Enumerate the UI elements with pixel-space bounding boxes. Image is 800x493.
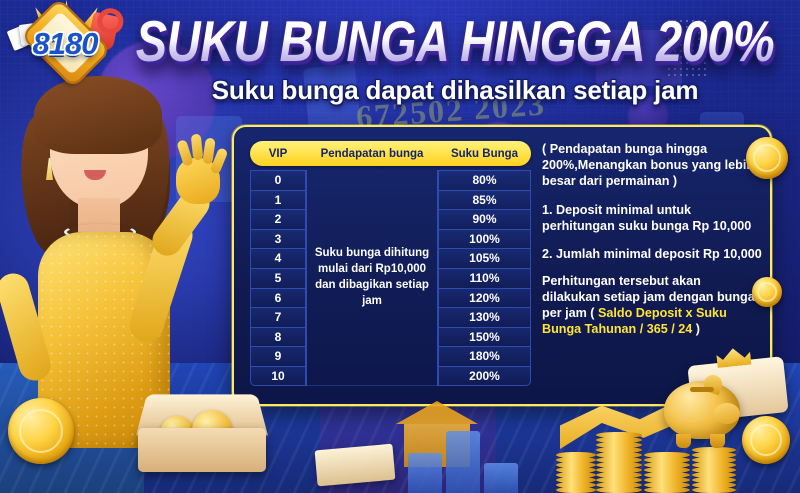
cell-vip-level: 4	[250, 248, 306, 268]
terms-block: ( Pendapatan bunga hingga 200%,Menangkan…	[542, 141, 762, 348]
terms-intro: ( Pendapatan bunga hingga 200%,Menangkan…	[542, 141, 762, 189]
merged-income-cell: Suku bunga dihitung mulai dari Rp10,000 …	[306, 170, 438, 386]
banknotes-decor	[315, 444, 396, 487]
cell-vip-level: 7	[250, 307, 306, 327]
piggy-leg	[710, 434, 725, 448]
cell-interest-rate: 90%	[438, 209, 531, 229]
piggy-snout	[714, 403, 740, 424]
column-header-income: Pendapatan bunga	[306, 148, 438, 160]
cell-interest-rate: 85%	[438, 190, 531, 210]
cell-interest-rate: 180%	[438, 346, 531, 366]
terms-item-2: 2. Jumlah minimal deposit Rp 10,000	[542, 246, 762, 262]
logo-text: 8180	[6, 26, 124, 62]
cell-vip-level: 9	[250, 346, 306, 366]
cell-interest-rate: 110%	[438, 268, 531, 288]
gold-coin-icon	[746, 137, 788, 179]
coin-stack	[556, 453, 596, 493]
cell-interest-rate: 200%	[438, 366, 531, 386]
table-header-row: VIP Pendapatan bunga Suku Bunga	[250, 141, 531, 166]
bar-chart-decor	[446, 431, 480, 493]
column-header-rate: Suku Bunga	[438, 148, 531, 160]
piggy-bank-icon	[664, 381, 740, 439]
character-finger	[191, 134, 204, 161]
cell-vip-level: 3	[250, 229, 306, 249]
promo-banner: 672502 2023	[0, 0, 800, 493]
bar-chart-decor	[484, 463, 518, 493]
gold-coin-icon	[752, 277, 782, 307]
brand-logo[interactable]: 8180	[6, 2, 124, 86]
promo-details-panel: ★ ★ VIP Pendapatan bunga Suku Bunga Suku…	[232, 125, 772, 406]
gold-coin-icon	[742, 416, 790, 464]
terms-formula: Perhitungan tersebut akan dilakukan seti…	[542, 273, 762, 337]
cell-vip-level: 1	[250, 190, 306, 210]
cell-vip-level: 0	[250, 170, 306, 190]
character-illustration	[0, 66, 230, 446]
cell-vip-level: 2	[250, 209, 306, 229]
gold-coin-icon	[8, 398, 74, 464]
vip-rate-table: VIP Pendapatan bunga Suku Bunga Suku bun…	[250, 141, 531, 386]
coin-stack	[644, 453, 690, 493]
table-body: Suku bunga dihitung mulai dari Rp10,000 …	[250, 170, 531, 386]
cell-interest-rate: 150%	[438, 327, 531, 347]
cell-interest-rate: 120%	[438, 288, 531, 308]
cell-vip-level: 8	[250, 327, 306, 347]
formula-tail: )	[696, 322, 700, 336]
character-hair	[34, 76, 162, 154]
terms-item-1: 1. Deposit minimal untuk perhitungan suk…	[542, 202, 762, 234]
coin-stack	[596, 433, 642, 493]
merged-income-text: Suku bunga dihitung mulai dari Rp10,000 …	[307, 246, 437, 309]
headline: SUKU BUNGA HINGGA 200%	[120, 12, 790, 69]
column-header-vip: VIP	[250, 148, 306, 160]
piggy-leg	[676, 434, 691, 448]
cell-vip-level: 5	[250, 268, 306, 288]
piggy-coin-slot	[690, 387, 714, 392]
coin-stack	[692, 448, 736, 493]
treasure-chest-icon	[138, 390, 266, 472]
cell-interest-rate: 80%	[438, 170, 531, 190]
cell-vip-level: 6	[250, 288, 306, 308]
cell-interest-rate: 105%	[438, 248, 531, 268]
cell-interest-rate: 130%	[438, 307, 531, 327]
chest-body	[138, 428, 266, 472]
cell-vip-level: 10	[250, 366, 306, 386]
bar-chart-decor	[408, 453, 442, 493]
cell-interest-rate: 100%	[438, 229, 531, 249]
